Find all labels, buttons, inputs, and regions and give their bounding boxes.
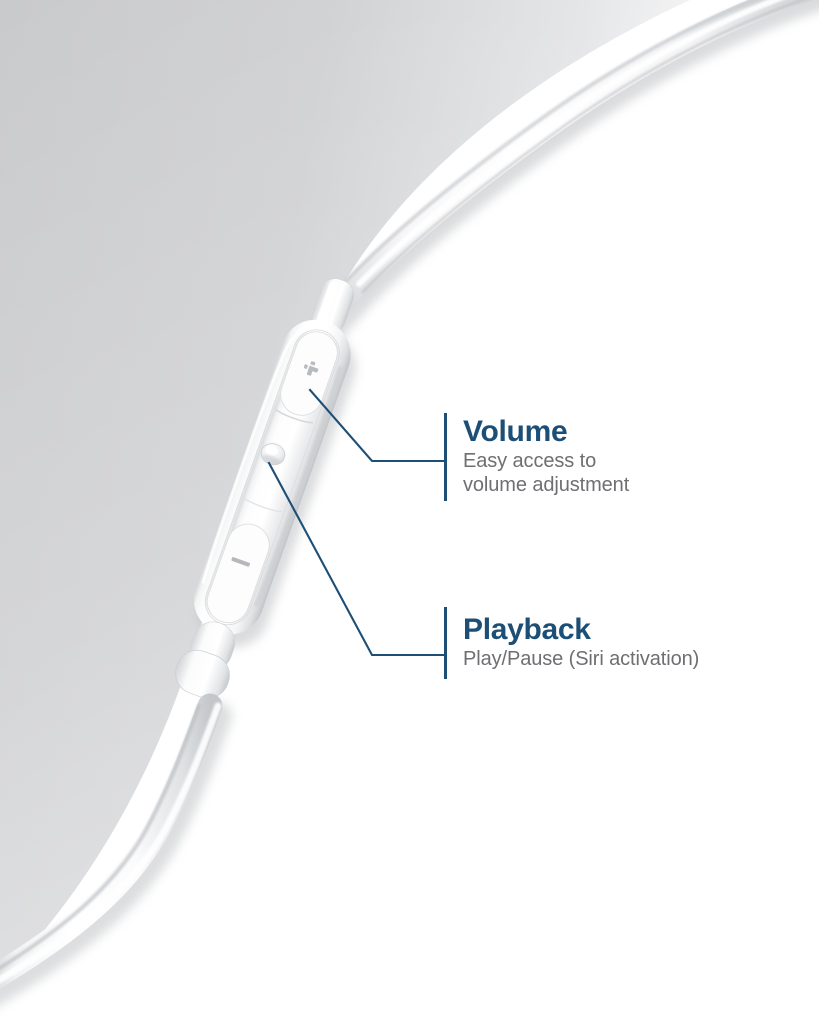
callout-title-volume: Volume <box>463 416 629 448</box>
callout-playback: Playback Play/Pause (Siri activation) <box>444 607 699 679</box>
callout-description-playback: Play/Pause (Siri activation) <box>463 647 699 671</box>
product-callout-image: Volume Easy access to volume adjustment … <box>0 0 819 1024</box>
callout-title-playback: Playback <box>463 614 699 646</box>
callout-text-playback: Playback Play/Pause (Siri activation) <box>447 607 699 679</box>
product-photo-illustration <box>0 0 819 1024</box>
callout-text-volume: Volume Easy access to volume adjustment <box>447 413 629 501</box>
callout-description-volume: Easy access to volume adjustment <box>463 449 629 498</box>
callout-volume: Volume Easy access to volume adjustment <box>444 413 629 501</box>
